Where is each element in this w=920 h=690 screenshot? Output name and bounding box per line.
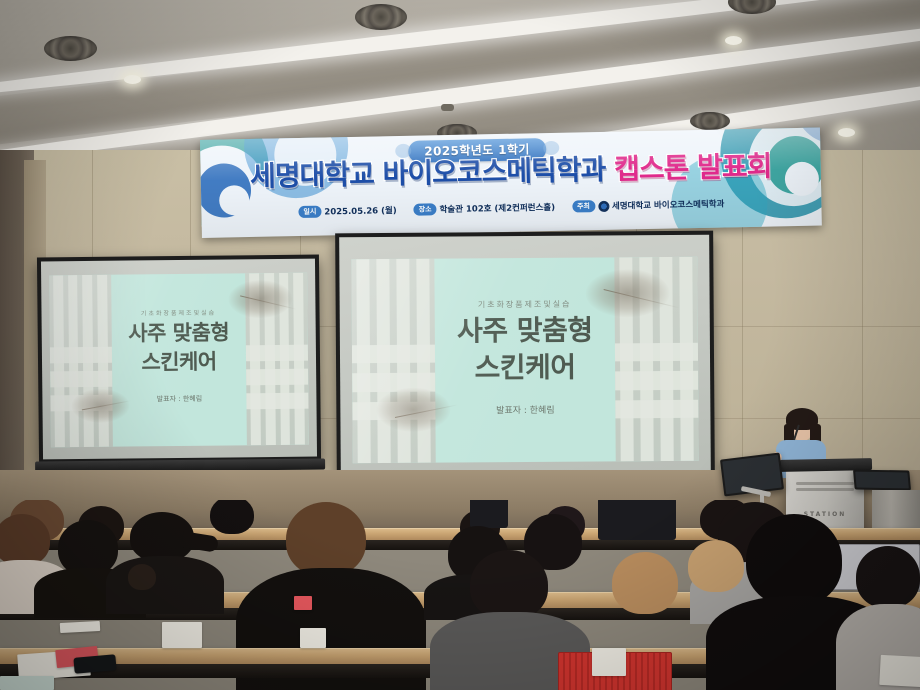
desk-paper (60, 621, 100, 633)
slide-presenter: 발표자 : 한혜림 (352, 402, 698, 417)
banner-detail-badge: 장소 (414, 203, 437, 215)
ceiling-downlight-icon (725, 36, 742, 45)
slide-title-line-1: 사주 맞춤형 (352, 314, 698, 348)
audience-head (210, 500, 254, 534)
smoke-detector-icon (441, 104, 454, 111)
lecture-hall-photo: 2025학년도 1학기 세명대학교 바이오코스메틱학과 캡스톤 발표회 일시 2… (0, 0, 920, 690)
audience-bag (470, 500, 508, 528)
banner-headline-event: 캡스톤 발표회 (614, 150, 772, 186)
banner-detail-location: 장소 학술관 102호 (제2컨퍼런스홀) (414, 201, 556, 216)
ceiling-downlight-icon (124, 75, 141, 84)
right-screen-canvas: 기초화장품제조및실습 사주 맞춤형 스킨케어 발표자 : 한혜림 (339, 235, 711, 478)
banner-detail-text: 학술관 102호 (제2컨퍼런스홀) (439, 201, 555, 215)
university-logo-icon (598, 200, 609, 211)
desk-paper (0, 676, 54, 690)
left-screen-canvas: 기초화장품제조및실습 사주 맞춤형 스킨케어 발표자 : 한혜림 (41, 259, 317, 460)
audience-head (688, 540, 744, 592)
event-banner: 2025학년도 1학기 세명대학교 바이오코스메틱학과 캡스톤 발표회 일시 2… (200, 128, 822, 238)
audience-head (0, 514, 50, 566)
ceiling-vent-icon (690, 112, 730, 130)
slide-title-line-2: 스킨케어 (50, 350, 308, 376)
desk-paper (162, 622, 202, 648)
banner-headline-department: 세명대학교 바이오코스메틱학과 (250, 153, 606, 193)
desk-paper (300, 628, 326, 648)
basket-paper (592, 648, 626, 676)
audience-head (128, 564, 156, 590)
audience-head (612, 552, 678, 614)
audience-head (286, 502, 366, 576)
confidence-monitor-right (853, 470, 911, 491)
left-screen: 기초화장품제조및실습 사주 맞춤형 스킨케어 발표자 : 한혜림 (37, 255, 321, 464)
ceiling-downlight-icon (838, 128, 855, 137)
ceiling-vent-icon (44, 36, 97, 61)
audience-head (746, 514, 842, 606)
banner-detail-badge: 일시 (298, 206, 321, 218)
ceiling-vent-icon (355, 4, 407, 30)
right-screen: 기초화장품제조및실습 사주 맞춤형 스킨케어 발표자 : 한혜림 (335, 231, 715, 482)
banner-detail-date: 일시 2025.05.26 (월) (298, 204, 396, 218)
desk-paper (294, 596, 312, 610)
audience-head (856, 546, 920, 608)
slide-title-line-2: 스킨케어 (352, 351, 698, 385)
monitor-screen (855, 472, 909, 489)
podium-slot (796, 488, 854, 491)
audience-bag (598, 500, 676, 540)
audience-head (470, 550, 548, 620)
left-slide: 기초화장품제조및실습 사주 맞춤형 스킨케어 발표자 : 한혜림 (49, 273, 309, 448)
banner-detail-badge: 주최 (572, 200, 595, 212)
desk-paper (879, 655, 920, 687)
slide-title-line-1: 사주 맞춤형 (50, 321, 308, 347)
podium-slot (796, 482, 854, 485)
audience-shoulders (106, 556, 224, 614)
audience-area (0, 500, 920, 690)
right-slide: 기초화장품제조및실습 사주 맞춤형 스킨케어 발표자 : 한혜림 (351, 257, 698, 463)
banner-detail-text: 2025.05.26 (월) (324, 204, 397, 217)
banner-detail-text: 세명대학교 바이오코스메틱학과 (612, 197, 725, 211)
